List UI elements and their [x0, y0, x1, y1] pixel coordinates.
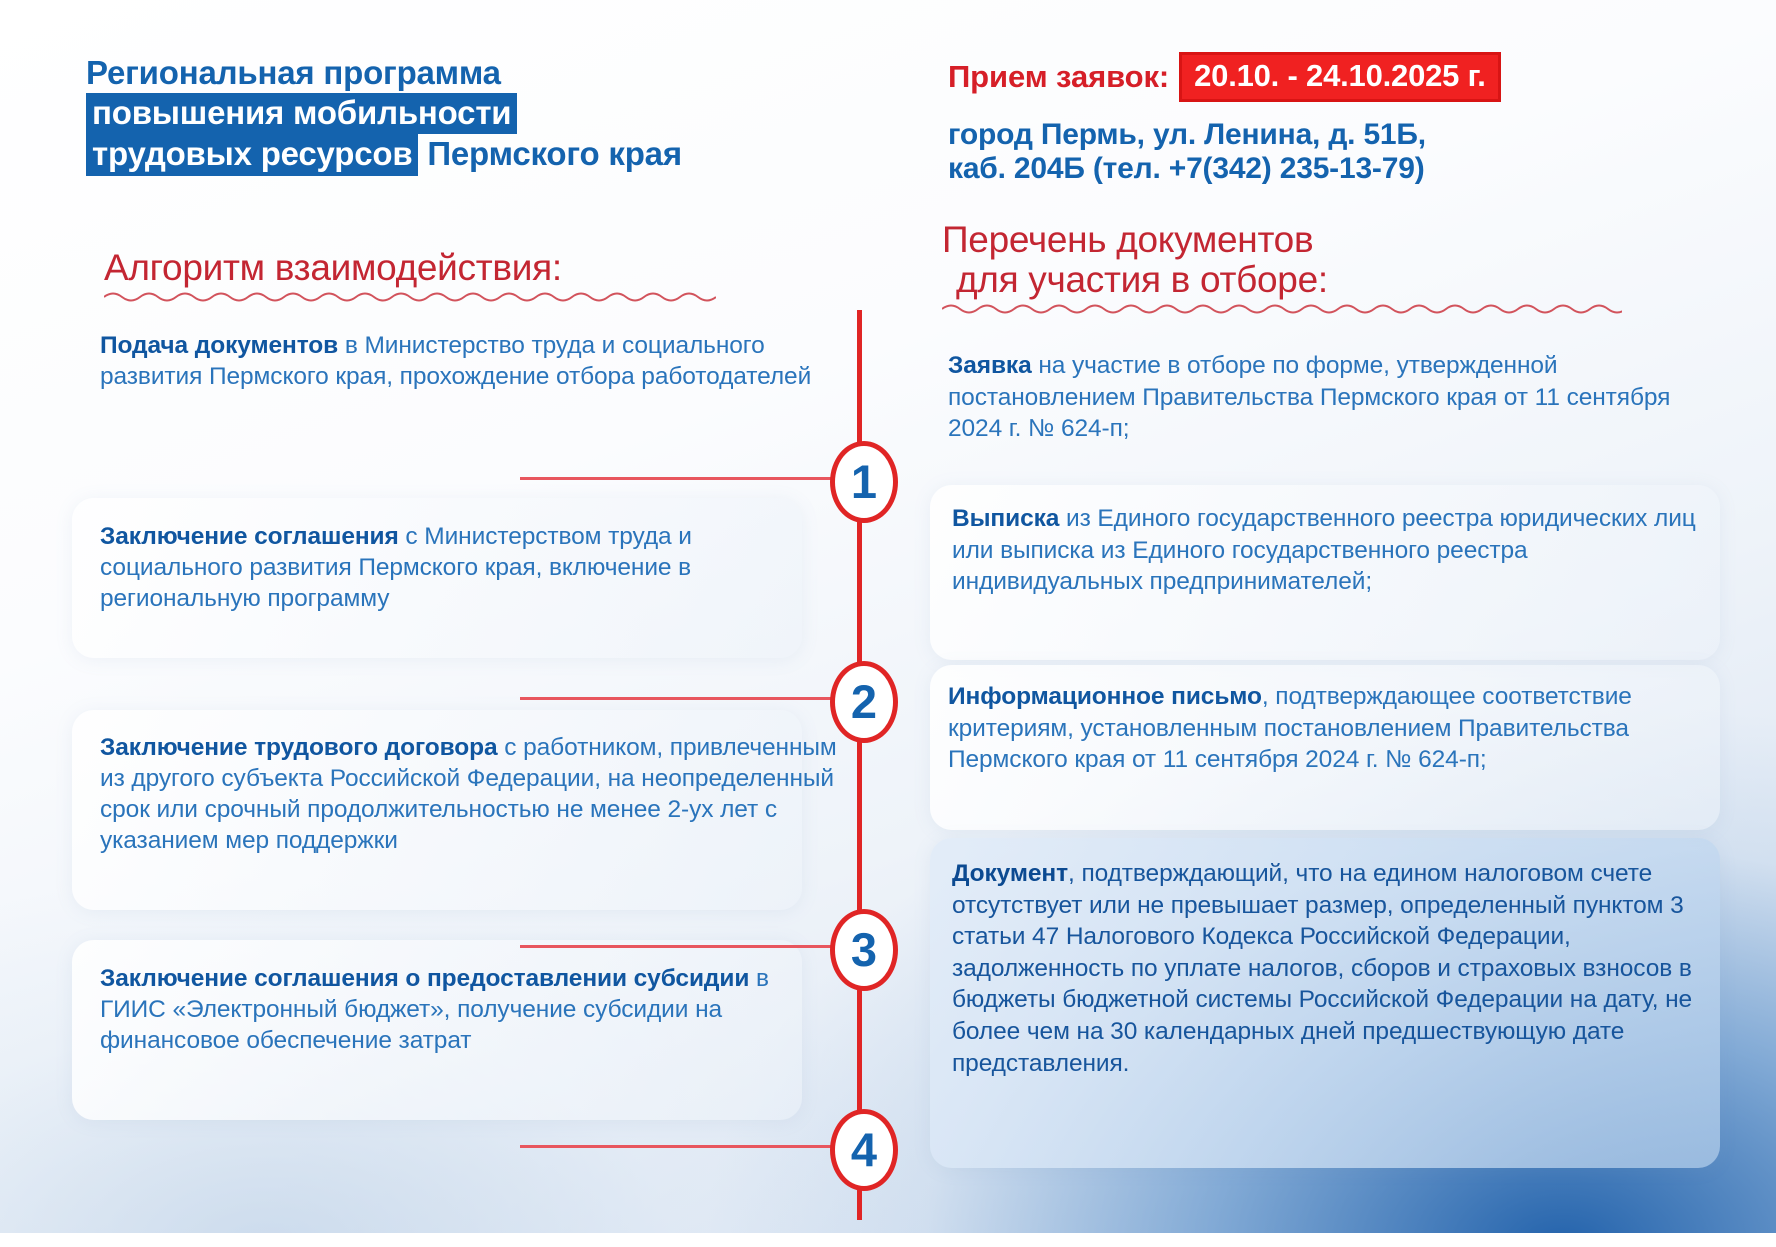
- address-line-1: город Пермь, ул. Ленина, д. 51Б,: [948, 118, 1501, 152]
- title-line-1: Региональная программа: [86, 54, 786, 93]
- step-2-bold: Заключение соглашения: [100, 523, 399, 550]
- documents-heading: Перечень документов для участия в отборе…: [942, 220, 1622, 316]
- timeline-step-marker-2[interactable]: 2: [830, 661, 898, 743]
- document-item-3: Информационное письмо, подтверждающее со…: [948, 681, 1723, 776]
- application-dates-badge: 20.10. - 24.10.2025 г.: [1179, 52, 1501, 102]
- application-header: Прием заявок: 20.10. - 24.10.2025 г. гор…: [948, 52, 1501, 185]
- title-line-2-highlight: повышения мобильности: [86, 93, 517, 135]
- title-line-2: повышения мобильности: [86, 93, 786, 135]
- timeline-connector-2: [520, 697, 840, 700]
- page-title: Региональная программа повышения мобильн…: [86, 54, 786, 176]
- timeline-step-number-4: 4: [851, 1126, 877, 1173]
- title-line-3-rest: Пермского края: [418, 135, 681, 172]
- step-4-bold: Заключение соглашения о предоставлении с…: [100, 965, 749, 992]
- poster-root: Региональная программа повышения мобильн…: [0, 0, 1776, 1247]
- document-4-rest: , подтверждающий, что на едином налогово…: [952, 860, 1692, 1077]
- application-period-row: Прием заявок: 20.10. - 24.10.2025 г.: [948, 52, 1501, 102]
- document-item-1: Заявка на участие в отборе по форме, утв…: [948, 350, 1703, 445]
- application-label: Прием заявок:: [948, 59, 1169, 95]
- title-line-3-highlight: трудовых ресурсов: [86, 134, 418, 176]
- timeline-step-number-2: 2: [851, 678, 877, 725]
- document-2-rest: из Единого государственного реестра юрид…: [952, 505, 1696, 595]
- wavy-underline-icon-2: [942, 302, 1622, 316]
- address-line-2: каб. 204Б (тел. +7(342) 235-13-79): [948, 152, 1501, 186]
- documents-heading-line-1: Перечень документов: [942, 220, 1622, 260]
- title-line-3: трудовых ресурсов Пермского края: [86, 134, 786, 176]
- step-item-3: Заключение трудового договора с работник…: [100, 732, 856, 856]
- algorithm-heading: Алгоритм взаимодействия:: [104, 248, 716, 304]
- timeline-step-marker-1[interactable]: 1: [830, 441, 898, 523]
- application-address: город Пермь, ул. Ленина, д. 51Б, каб. 20…: [948, 118, 1501, 185]
- document-item-4: Документ, подтверждающий, что на едином …: [952, 858, 1712, 1079]
- document-2-bold: Выписка: [952, 505, 1059, 532]
- document-item-2: Выписка из Единого государственного реес…: [952, 503, 1707, 598]
- algorithm-heading-text: Алгоритм взаимодействия:: [104, 248, 716, 288]
- document-4-bold: Документ: [952, 860, 1068, 887]
- timeline-step-marker-4[interactable]: 4: [830, 1109, 898, 1191]
- timeline-step-number-3: 3: [851, 926, 877, 973]
- step-1-bold: Подача документов: [100, 332, 338, 359]
- document-1-rest: на участие в отборе по форме, утвержденн…: [948, 352, 1670, 442]
- timeline-connector-4: [520, 1145, 840, 1148]
- document-3-bold: Информационное письмо: [948, 683, 1262, 710]
- document-1-bold: Заявка: [948, 352, 1032, 379]
- step-item-1: Подача документов в Министерство труда и…: [100, 330, 840, 392]
- timeline-connector-3: [520, 945, 840, 948]
- timeline-step-number-1: 1: [851, 458, 877, 505]
- step-3-bold: Заключение трудового договора: [100, 734, 498, 761]
- documents-heading-line-2: для участия в отборе:: [942, 260, 1622, 300]
- wavy-underline-icon: [104, 290, 716, 304]
- timeline-step-marker-3[interactable]: 3: [830, 909, 898, 991]
- timeline-connector-1: [520, 477, 840, 480]
- step-item-4: Заключение соглашения о предоставлении с…: [100, 963, 840, 1056]
- step-item-2: Заключение соглашения с Министерством тр…: [100, 521, 840, 614]
